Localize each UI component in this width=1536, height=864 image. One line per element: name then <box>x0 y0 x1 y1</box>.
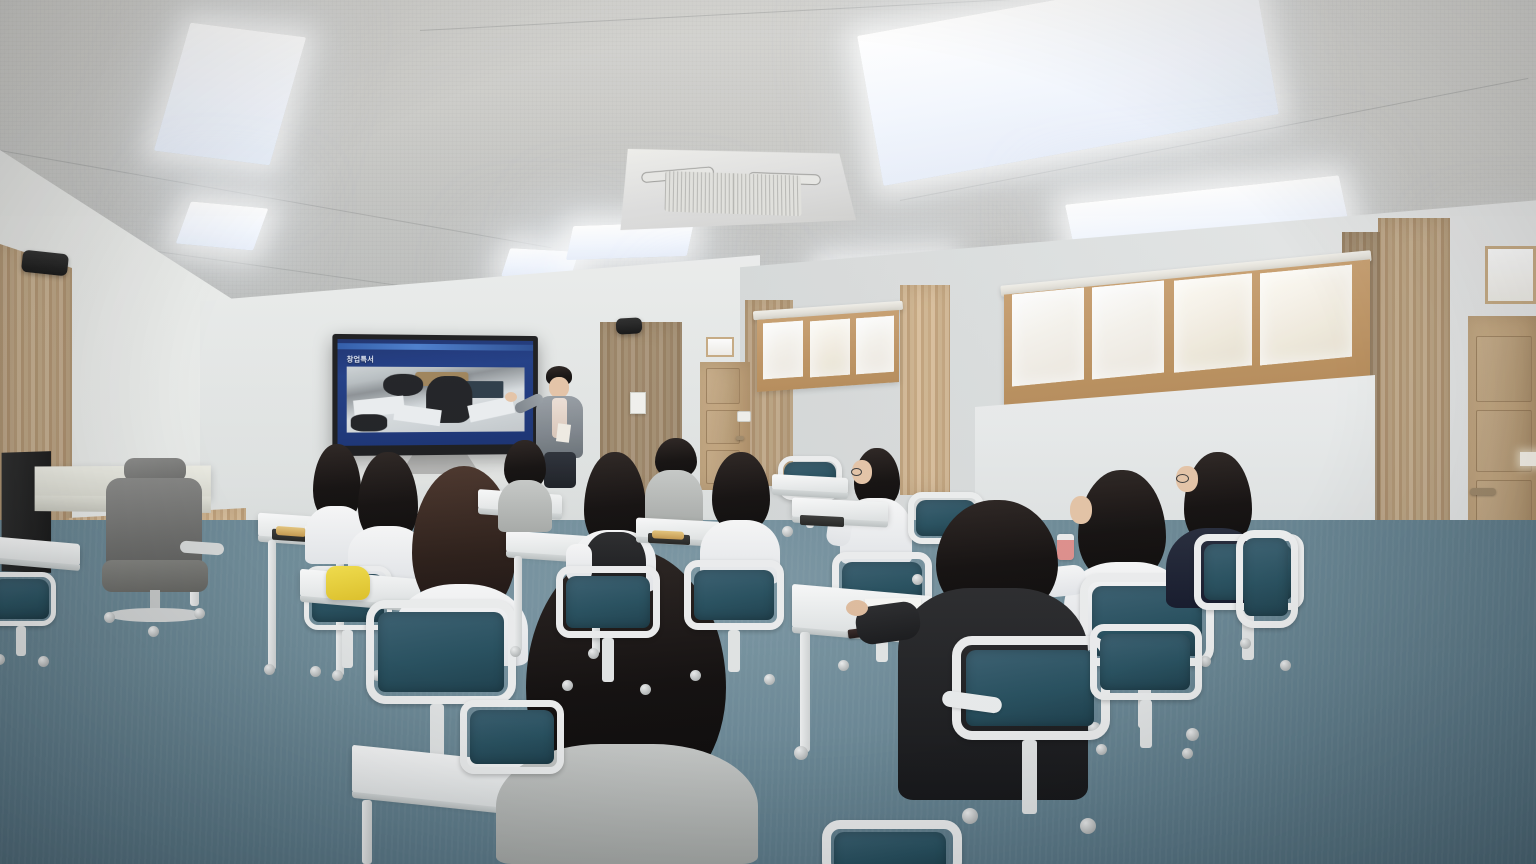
wall-speaker-center <box>616 317 643 334</box>
desk-caster <box>264 664 275 675</box>
screen-display: 창업특서 <box>338 339 534 446</box>
snack <box>652 530 684 540</box>
window-pane-7 <box>1260 265 1352 366</box>
chair-back-right[interactable] <box>1090 624 1210 774</box>
window-pane-3 <box>856 316 894 375</box>
classroom-photo: 창업특서 <box>0 0 1536 864</box>
instructor-office-chair[interactable] <box>88 450 218 640</box>
chair-caster-1 <box>104 612 115 623</box>
chair-caster-3 <box>148 626 159 637</box>
chair-seat-pad <box>102 560 208 592</box>
presenter-face <box>549 377 569 398</box>
desk-caster <box>794 746 808 760</box>
window-pane-5 <box>1092 281 1164 380</box>
eyeglasses-icon <box>851 468 862 476</box>
side-door-handle[interactable] <box>1470 488 1496 495</box>
desk-leg <box>268 540 276 670</box>
desk-leg <box>514 556 522 652</box>
side-door-transom <box>1485 246 1536 304</box>
chair-backrest <box>106 478 202 570</box>
wall-speaker-left <box>21 250 69 277</box>
yellow-bag <box>326 566 370 600</box>
student-top <box>498 480 552 532</box>
chair-empty-left[interactable] <box>0 572 64 668</box>
student-hand <box>846 600 868 616</box>
chair-bottom-right[interactable] <box>1236 530 1306 660</box>
ceiling-light-2 <box>176 202 269 251</box>
window-pane-1 <box>763 321 803 380</box>
presenter-hand <box>505 392 517 402</box>
chair-caster-2 <box>194 608 205 619</box>
slide-title: 창업특서 <box>347 354 374 364</box>
back-door-transom <box>706 337 734 357</box>
window-pane-4 <box>1012 288 1084 387</box>
presenter-notes <box>556 423 571 442</box>
wall-sign <box>630 392 646 414</box>
chair-student-h[interactable] <box>684 560 790 706</box>
light-switch-panel[interactable] <box>737 411 751 422</box>
slide-top-band <box>338 343 534 351</box>
student-e <box>498 440 552 532</box>
chair-base <box>110 608 202 622</box>
desk-caster <box>510 646 521 657</box>
desk-midright-1 <box>772 474 848 494</box>
back-door-handle[interactable] <box>736 436 744 440</box>
chair-foreground-bottom[interactable] <box>822 820 972 864</box>
chair-student-f[interactable] <box>556 566 668 716</box>
window-pane-2 <box>810 319 850 378</box>
desk-leg <box>800 632 810 752</box>
desk-leg <box>362 800 372 864</box>
student-g <box>645 438 703 526</box>
window-pane-6 <box>1174 273 1252 373</box>
chair-student-d[interactable] <box>460 700 570 864</box>
ceiling-air-conditioner <box>611 149 857 230</box>
eyeglasses-icon <box>1176 474 1189 483</box>
slide-photo <box>347 367 525 433</box>
